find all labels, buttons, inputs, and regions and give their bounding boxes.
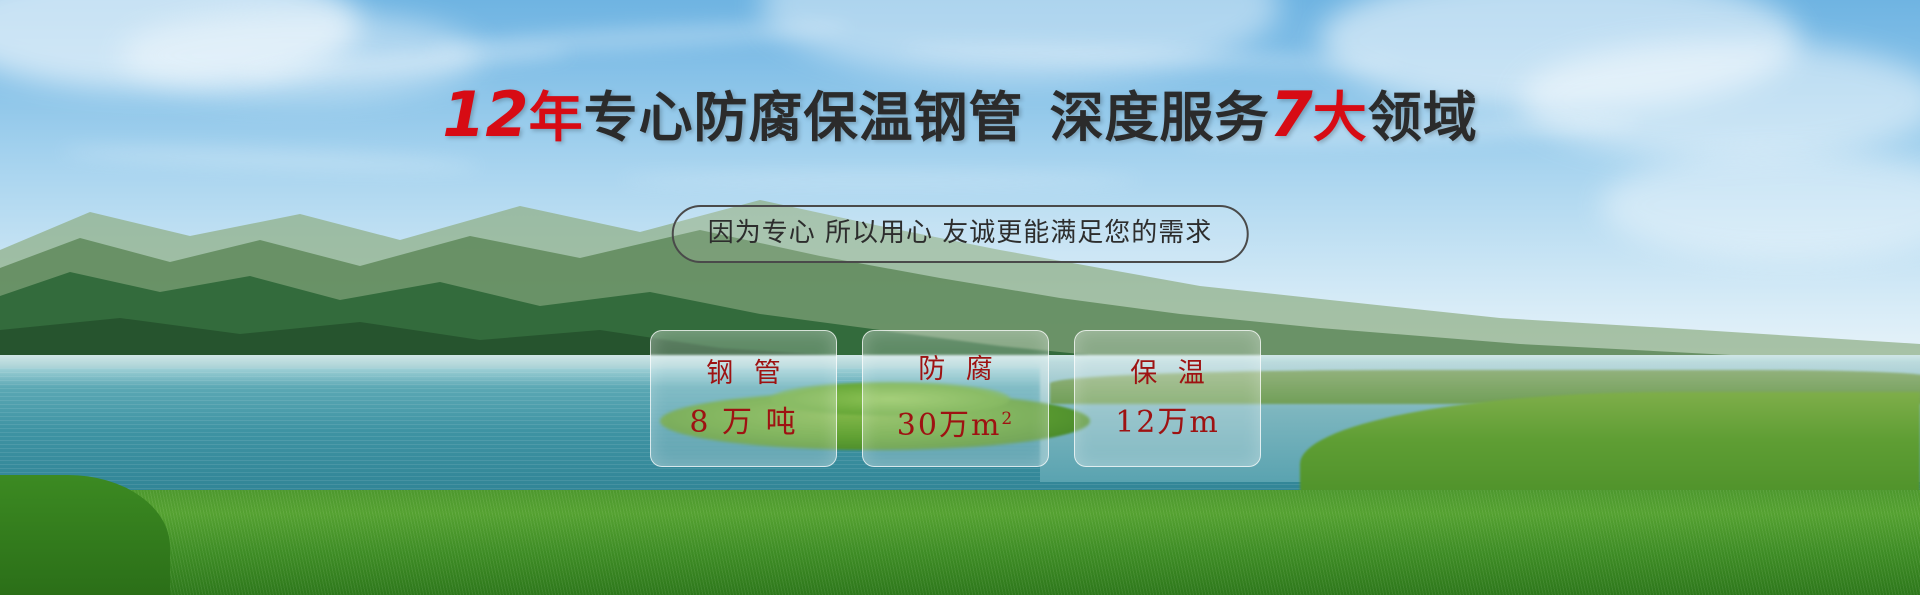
- stat-card-title: 防 腐: [912, 354, 999, 386]
- headline-fields-tail: 领域: [1368, 86, 1478, 149]
- stat-card-value-sup: 2: [1001, 409, 1014, 429]
- stat-card-value: 8 万 吨: [689, 406, 797, 440]
- stat-card-anticorrosion: 防 腐 30万m2: [862, 330, 1049, 467]
- hero-banner: 12年专心防腐保温钢管深度服务7大领域 因为专心 所以用心 友诚更能满足您的需求…: [0, 0, 1920, 595]
- headline-service-text: 深度服务: [1050, 86, 1270, 149]
- stat-card-title: 钢 管: [700, 358, 787, 390]
- headline-main-text: 专心防腐保温钢管: [584, 86, 1024, 149]
- headline-years-number: 12: [442, 78, 528, 151]
- stat-card-title: 保 温: [1124, 358, 1211, 390]
- stat-card-value-text: 12万m: [1115, 405, 1220, 440]
- headline: 12年专心防腐保温钢管深度服务7大领域: [0, 84, 1920, 149]
- headline-years-unit: 年: [529, 86, 584, 149]
- banner-text-layer: 12年专心防腐保温钢管深度服务7大领域 因为专心 所以用心 友诚更能满足您的需求…: [0, 0, 1920, 595]
- headline-fields-number: 7: [1270, 78, 1313, 151]
- stat-card-insulation: 保 温 12万m: [1074, 330, 1261, 467]
- subtitle-pill: 因为专心 所以用心 友诚更能满足您的需求: [672, 205, 1249, 263]
- stat-card-value: 12万m: [1115, 406, 1220, 440]
- stat-card-value: 30万m2: [897, 402, 1014, 443]
- stat-card-steel-pipe: 钢 管 8 万 吨: [650, 330, 837, 467]
- stat-card-group: 钢 管 8 万 吨 防 腐 30万m2 保 温 12万m: [650, 330, 1261, 467]
- stat-card-value-text: 8 万 吨: [689, 405, 797, 440]
- headline-fields-unit: 大: [1313, 86, 1368, 149]
- stat-card-value-text: 30万m: [897, 408, 1002, 443]
